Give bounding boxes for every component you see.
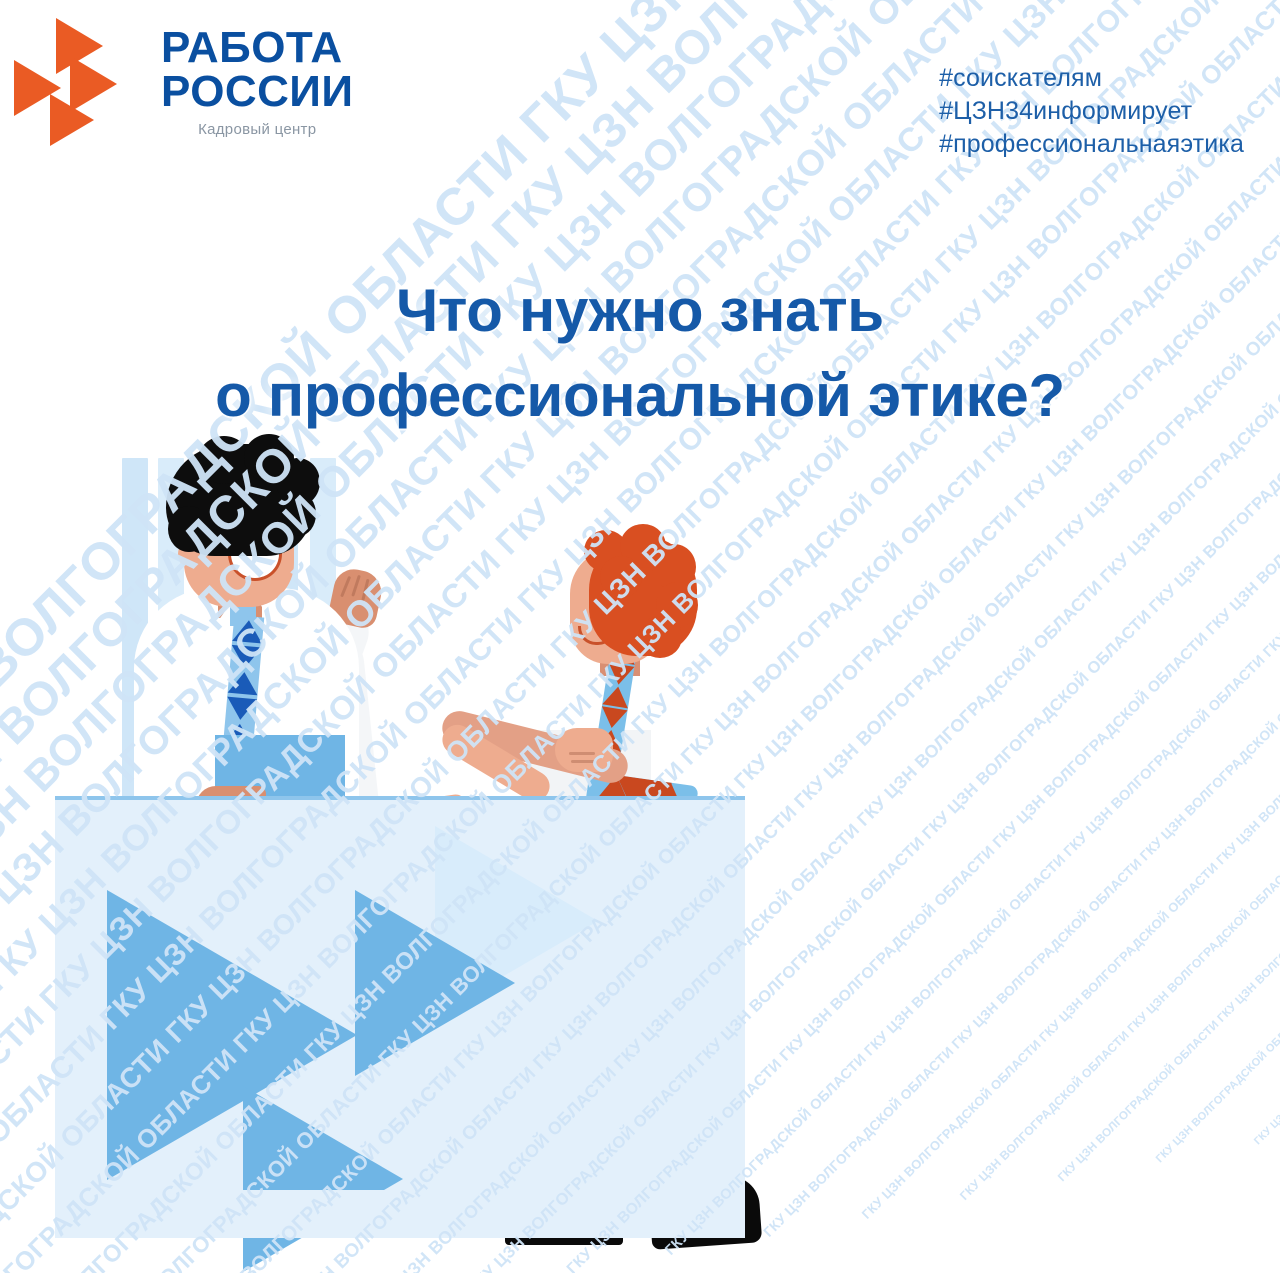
brand-logo: РАБОТА РОССИИ Кадровый центр [12, 16, 353, 144]
consultant-hair-curl [282, 492, 316, 536]
illustration-employment-center [0, 430, 780, 1273]
hashtag-item: #соискателям [939, 62, 1244, 95]
poster-canvas: ГКУ ЦЗН ВОЛГОГРАДСКОЙ ОБЛАСТИ ГКУ ЦЗН ВО… [0, 0, 1280, 1273]
four-triangles-mark-icon [12, 16, 145, 144]
desk-logo-triangle [243, 1086, 403, 1272]
reception-desk [55, 800, 745, 1238]
floor [55, 1190, 745, 1238]
hashtag-list: #соискателям #ЦЗН34информирует #професси… [939, 62, 1244, 161]
page-title-line2: о профессиональной этике? [0, 353, 1280, 438]
page-title: Что нужно знать о профессиональной этике… [0, 268, 1280, 438]
visitor-hair-curl [600, 556, 642, 598]
consultant-hair-curl [168, 506, 210, 552]
brand-logo-line2: РОССИИ [161, 70, 353, 114]
hashtag-item: #ЦЗН34информирует [939, 95, 1244, 128]
visitor-hair-curl [638, 616, 682, 658]
hashtag-item: #профессиональнаяэтика [939, 128, 1244, 161]
watermark-text: ГКУ ЦЗН ВОЛГОГРАДСКОЙ ОБЛАСТИ ГКУ ЦЗН ВО… [1055, 380, 1280, 1184]
watermark-text: ГКУ ЦЗН ВОЛГОГРАДСКОЙ ОБЛАСТИ ГКУ ЦЗН ВО… [1252, 419, 1280, 1147]
brand-logo-subtitle: Кадровый центр [161, 121, 353, 138]
consultant-hair-curl [198, 436, 250, 484]
watermark-text: ГКУ ЦЗН ВОЛГОГРАДСКОЙ ОБЛАСТИ ГКУ ЦЗН ВО… [1154, 403, 1280, 1165]
page-title-line1: Что нужно знать [0, 268, 1280, 353]
visitor-hand-on-bag [555, 728, 613, 772]
desk-logo-triangle [355, 890, 515, 1076]
watermark-text: ГКУ ЦЗН ВОЛГОГРАДСКОЙ ОБЛАСТИ ГКУ ЦЗН ВО… [957, 358, 1280, 1203]
brand-logo-text: РАБОТА РОССИИ Кадровый центр [161, 22, 353, 138]
brand-logo-line1: РАБОТА [161, 26, 353, 70]
